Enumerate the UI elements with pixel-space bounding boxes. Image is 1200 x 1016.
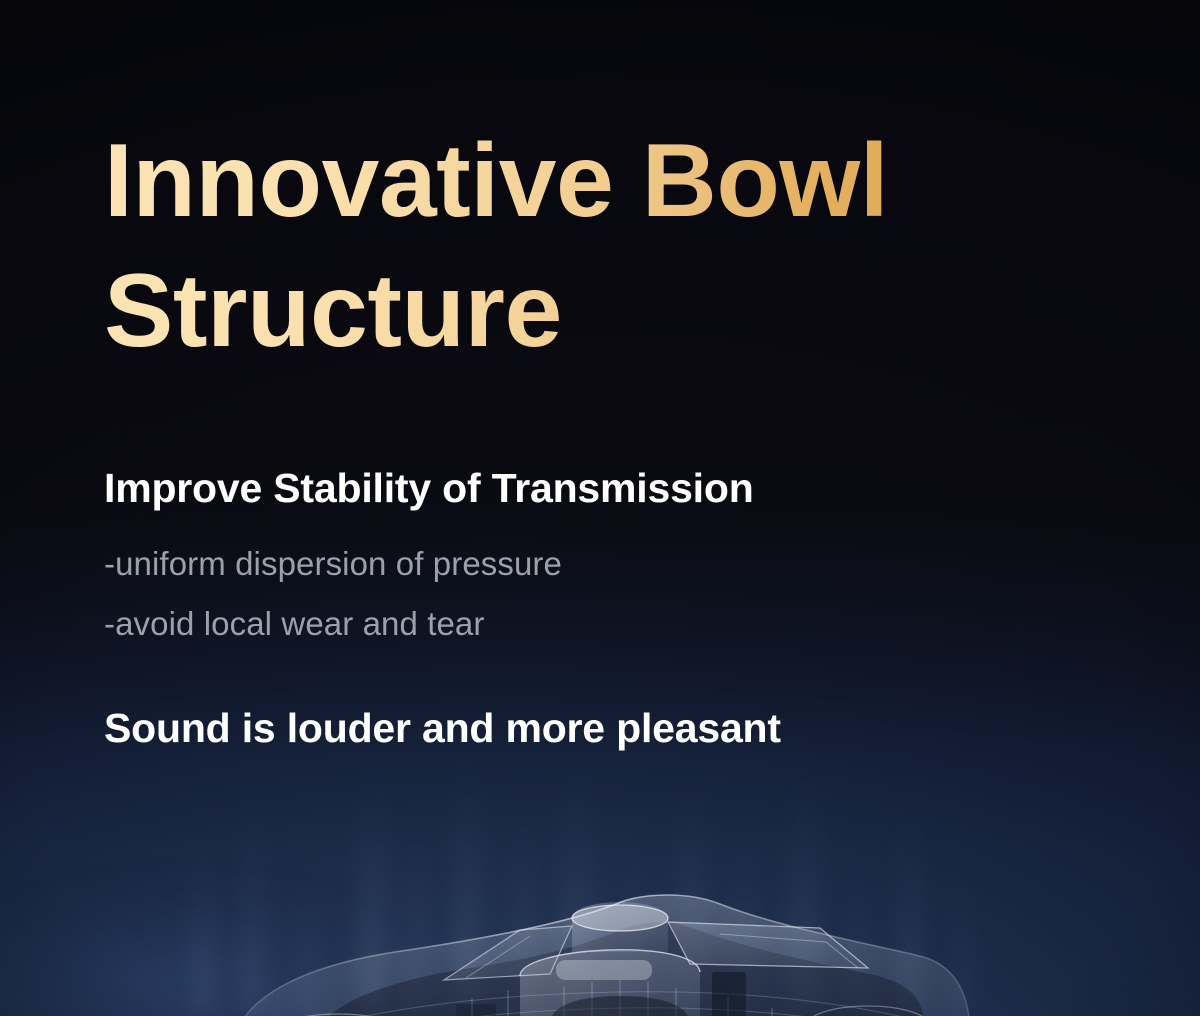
list-item: -uniform dispersion of pressure (104, 534, 1124, 594)
content-block: Innovative Bowl Structure Improve Stabil… (104, 0, 1124, 752)
page-title-line1: Innovative Bowl (104, 123, 888, 239)
page-title-line2: Structure (104, 246, 964, 376)
page-title: Innovative Bowl Structure (104, 116, 964, 376)
section-heading-stability: Improve Stability of Transmission (104, 464, 1124, 512)
section-heading-sound: Sound is louder and more pleasant (104, 704, 1124, 752)
product-feature-banner: Innovative Bowl Structure Improve Stabil… (0, 0, 1200, 1016)
list-item: -avoid local wear and tear (104, 594, 1124, 654)
feature-bullet-list: -uniform dispersion of pressure -avoid l… (104, 534, 1124, 654)
